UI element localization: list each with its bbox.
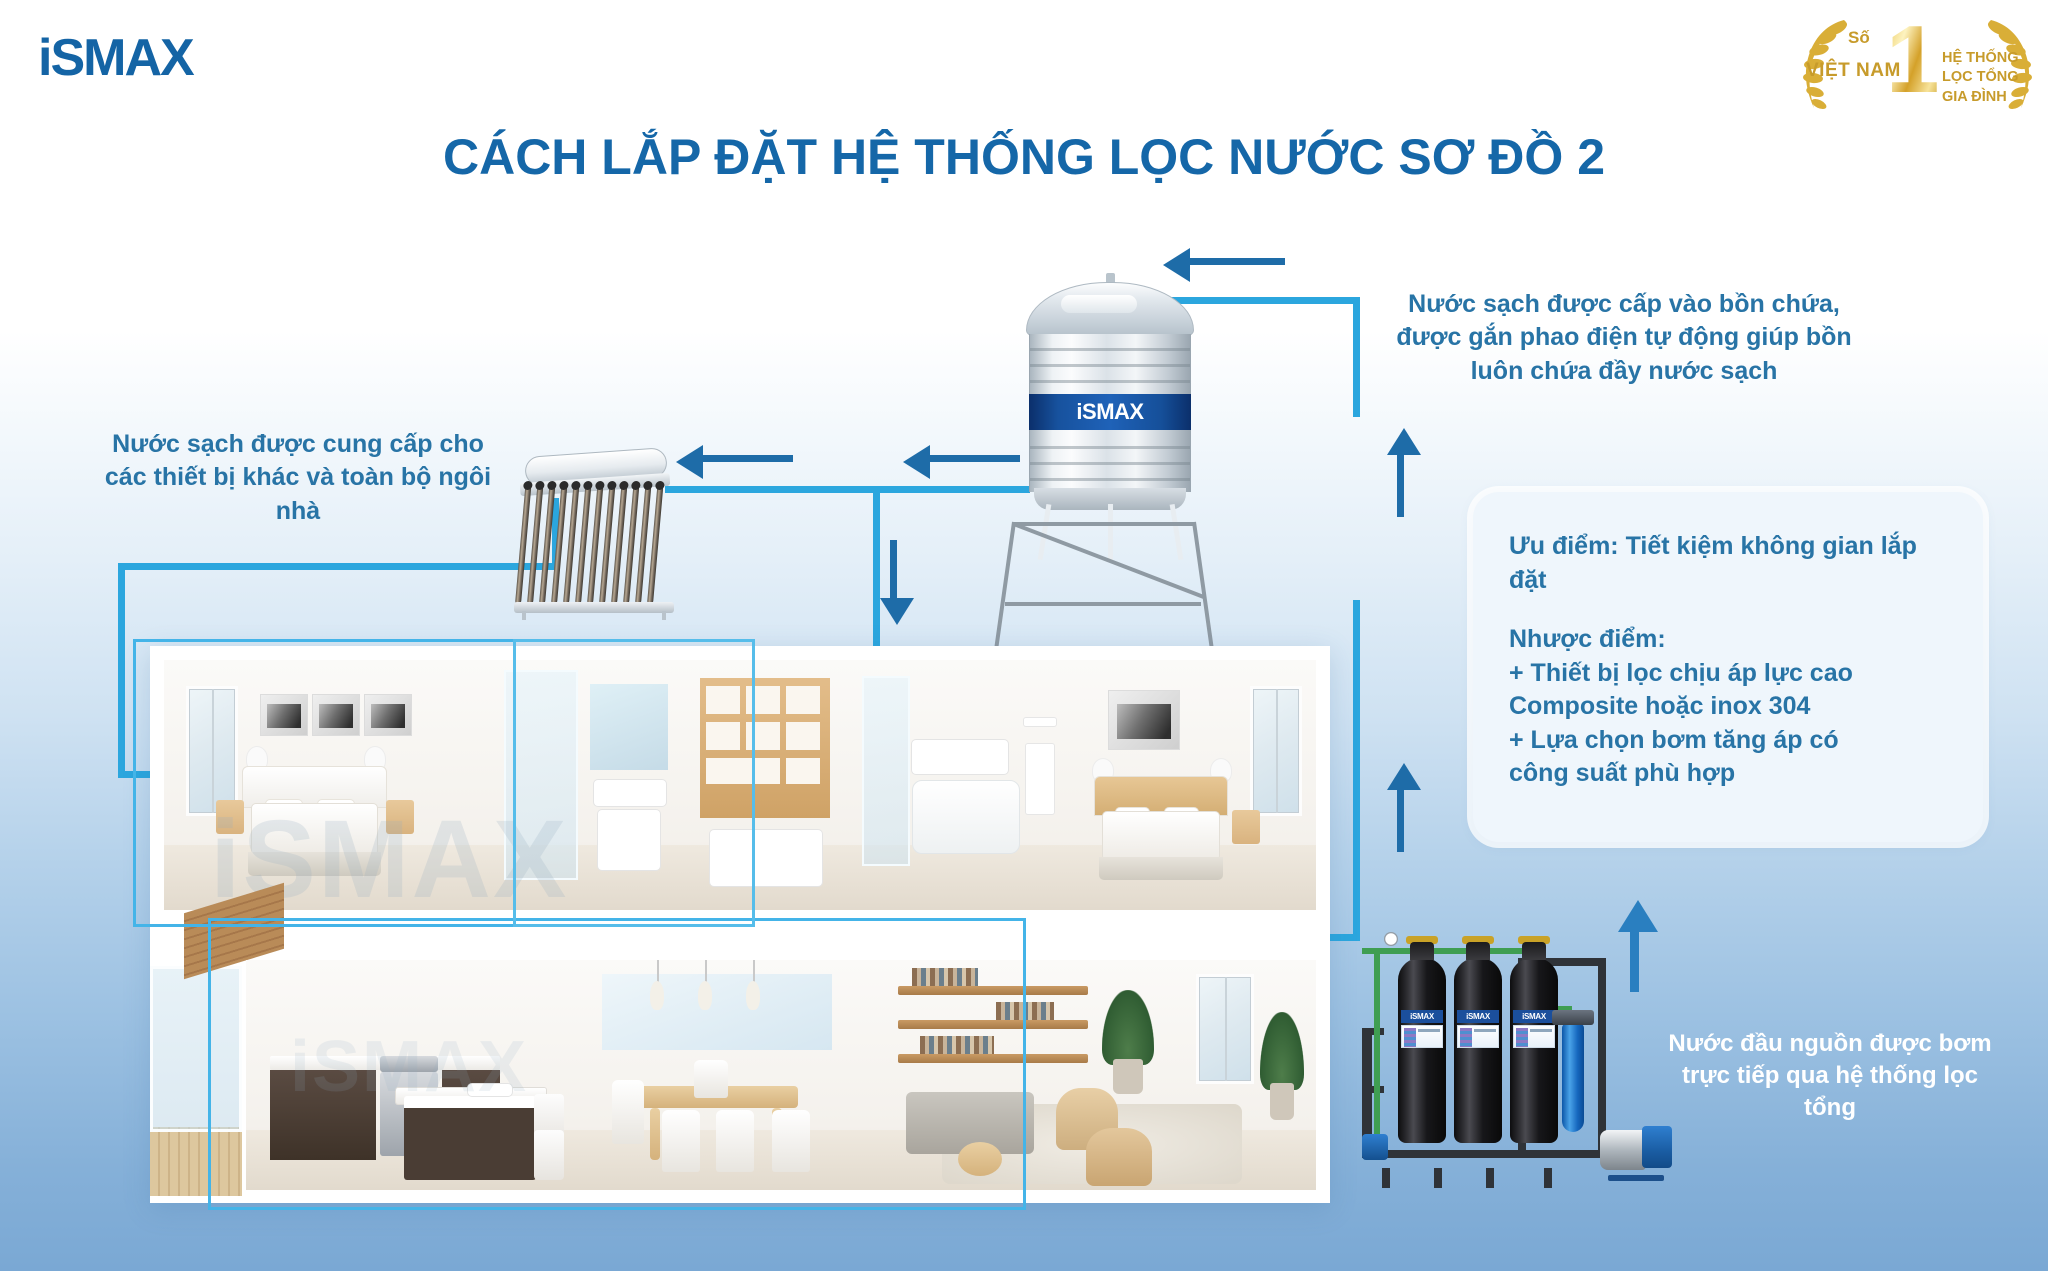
tank-rib bbox=[1030, 478, 1190, 481]
pump-body bbox=[1600, 1130, 1646, 1170]
stand-top-rail bbox=[1014, 522, 1194, 526]
badge-number-one: 1 bbox=[1886, 12, 1939, 108]
annotation-house: Nước sạch được cung cấp cho các thiết bị… bbox=[98, 428, 498, 528]
pipe-left-branch-vertical bbox=[118, 563, 125, 778]
filter-housing-head bbox=[1552, 1010, 1594, 1025]
filter-tank-brand: iSMAX bbox=[1401, 1010, 1443, 1023]
room-bathroom-right bbox=[854, 660, 1064, 910]
inlet-pipe-riser bbox=[1374, 948, 1380, 1138]
cons-line-1: + Thiết bị lọc chịu áp lực cao bbox=[1509, 657, 1955, 691]
nightstand bbox=[1232, 810, 1260, 844]
pros-line: Ưu điểm: Tiết kiệm không gian lắp đặt bbox=[1509, 530, 1955, 597]
shower-screen bbox=[862, 676, 910, 866]
filter-tank-2: iSMAX bbox=[1454, 958, 1502, 1143]
arrow-left-house-feed-2-icon bbox=[676, 445, 703, 479]
arrow-up-riser-upper-icon bbox=[1387, 428, 1421, 455]
pipe-main-riser bbox=[1353, 600, 1360, 940]
solar-frame-leg bbox=[522, 611, 526, 620]
lounge-chair bbox=[1086, 1128, 1152, 1186]
tank-rib bbox=[1030, 364, 1190, 367]
window bbox=[1196, 974, 1254, 1084]
pipe-left-branch-horizontal bbox=[118, 563, 558, 570]
badge-so-label: Số bbox=[1848, 28, 1870, 48]
tank-brand-label: iSMAX bbox=[1076, 399, 1143, 425]
pipe-tank-inlet-vertical bbox=[1353, 297, 1360, 417]
drain-valve bbox=[1362, 1134, 1388, 1160]
tub-ledge bbox=[912, 740, 1008, 774]
booster-pump bbox=[1600, 1124, 1672, 1176]
solar-tube-cap bbox=[535, 481, 545, 490]
bed bbox=[1094, 776, 1228, 880]
frame-foot bbox=[1486, 1168, 1494, 1188]
filter-tank-brand: iSMAX bbox=[1457, 1010, 1499, 1023]
window bbox=[1250, 686, 1302, 816]
wall-art bbox=[1108, 690, 1180, 750]
potted-plant bbox=[1260, 1012, 1304, 1120]
cons-line-4: công suất phù hợp bbox=[1509, 757, 1955, 791]
inlet-pipe-top bbox=[1362, 948, 1532, 954]
badge-subtitle-line-2: LỌC TỔNG bbox=[1942, 68, 2019, 87]
tank-rib bbox=[1030, 462, 1190, 465]
tank-rib bbox=[1030, 380, 1190, 383]
filter-tank-label bbox=[1401, 1025, 1443, 1048]
cons-label: Nhược điểm: bbox=[1509, 623, 1955, 657]
brand-logo: iSMAX bbox=[38, 28, 193, 88]
filter-tank-cap bbox=[1410, 942, 1434, 960]
card-spacer bbox=[1509, 597, 1955, 623]
solar-tube-cap bbox=[655, 481, 665, 490]
arrow-tail-house-drop bbox=[890, 540, 897, 602]
stand-mid-rail bbox=[1005, 602, 1201, 606]
arrow-up-riser-lower-icon bbox=[1387, 763, 1421, 790]
whole-house-filtration-system: iSMAX iSMAX iSMAX bbox=[1362, 928, 1672, 1190]
annotation-tank: Nước sạch được cấp vào bồn chứa, được gắ… bbox=[1374, 288, 1874, 388]
tank-rib bbox=[1030, 348, 1190, 351]
arrow-left-tank-inlet-icon bbox=[1163, 248, 1190, 282]
solar-tube-cap bbox=[631, 481, 641, 490]
frame-cross bbox=[1362, 1086, 1384, 1093]
solar-tube-cap bbox=[619, 481, 629, 490]
bathtub bbox=[912, 780, 1020, 854]
arrow-tail-house-feed-2 bbox=[703, 455, 793, 462]
tank-dome bbox=[1026, 282, 1194, 338]
frame-base-rail bbox=[1362, 1150, 1602, 1158]
pros-cons-card: Ưu điểm: Tiết kiệm không gian lắp đặt Nh… bbox=[1473, 492, 1983, 842]
frame-foot bbox=[1434, 1168, 1442, 1188]
tank-rib bbox=[1030, 446, 1190, 449]
arrow-tail-riser-upper bbox=[1397, 455, 1404, 517]
solar-tube-cap bbox=[571, 481, 581, 490]
fine-filter-housing bbox=[1562, 1024, 1584, 1132]
annotation-pump: Nước đầu nguồn được bơm trực tiếp qua hệ… bbox=[1660, 1028, 2000, 1124]
arrow-down-house-drop-icon bbox=[880, 598, 914, 625]
frame-cross bbox=[1362, 1028, 1384, 1035]
frame-foot bbox=[1544, 1168, 1552, 1188]
badge-subtitle-line-3: GIA ĐÌNH bbox=[1942, 88, 2019, 107]
arrow-tail-house-feed-1 bbox=[930, 455, 1020, 462]
solar-tube-cap bbox=[595, 481, 605, 490]
filter-tank-3: iSMAX bbox=[1510, 958, 1558, 1143]
arrow-tail-riser-lower bbox=[1397, 790, 1404, 852]
arrow-tail-tank-inlet bbox=[1190, 258, 1285, 265]
filter-tank-cap bbox=[1466, 942, 1490, 960]
solar-water-heater bbox=[512, 452, 677, 622]
solar-tube-cap bbox=[559, 481, 569, 490]
house-cutaway: iSMAX bbox=[150, 646, 1330, 1203]
room-bedroom-right bbox=[1064, 660, 1316, 910]
towel-rail bbox=[1024, 718, 1056, 726]
pressure-gauge bbox=[1384, 932, 1398, 946]
solar-tube-cap bbox=[643, 481, 653, 490]
solar-tube-cap bbox=[523, 481, 533, 490]
solar-heater-frame bbox=[514, 602, 674, 613]
frame-foot bbox=[1382, 1168, 1390, 1188]
pipe-tank-outlet-top bbox=[665, 486, 1030, 493]
towel bbox=[1026, 744, 1054, 814]
solar-vacuum-tubes bbox=[513, 486, 676, 608]
filter-tank-1: iSMAX bbox=[1398, 958, 1446, 1143]
filter-tank-label bbox=[1513, 1025, 1555, 1048]
brand-logo-text: iSMAX bbox=[38, 29, 193, 87]
arrow-left-house-feed-1-icon bbox=[903, 445, 930, 479]
page-title: CÁCH LẮP ĐẶT HỆ THỐNG LỌC NƯỚC SƠ ĐỒ 2 bbox=[0, 128, 2048, 186]
solar-tube-cap bbox=[547, 481, 557, 490]
cons-line-2: Composite hoặc inox 304 bbox=[1509, 690, 1955, 724]
badge-subtitle-line-1: HỆ THỐNG bbox=[1942, 49, 2019, 68]
solar-tube-cap bbox=[583, 481, 593, 490]
badge-subtitle: HỆ THỐNG LỌC TỔNG GIA ĐÌNH bbox=[1942, 49, 2019, 107]
pipe-house-drop-vertical bbox=[873, 486, 880, 646]
solar-frame-leg bbox=[662, 611, 666, 620]
filter-tank-label bbox=[1457, 1025, 1499, 1048]
filter-tank-cap bbox=[1522, 942, 1546, 960]
potted-plant bbox=[1102, 990, 1154, 1094]
pump-motor bbox=[1642, 1126, 1672, 1168]
solar-tube-cap bbox=[607, 481, 617, 490]
highlight-frame-bathroom bbox=[513, 639, 755, 927]
tank-brand-band: iSMAX bbox=[1029, 394, 1191, 430]
stand-diagonal-brace bbox=[1013, 522, 1206, 599]
cons-line-3: + Lựa chọn bơm tăng áp có bbox=[1509, 724, 1955, 758]
water-storage-tank: iSMAX bbox=[1020, 282, 1200, 532]
award-badge: Số VIỆT NAM 1 HỆ THỐNG LỌC TỔNG GIA ĐÌNH bbox=[1790, 6, 2045, 118]
highlight-frame-lower bbox=[208, 918, 1026, 1210]
pump-base bbox=[1608, 1175, 1664, 1181]
filter-tank-brand: iSMAX bbox=[1513, 1010, 1555, 1023]
